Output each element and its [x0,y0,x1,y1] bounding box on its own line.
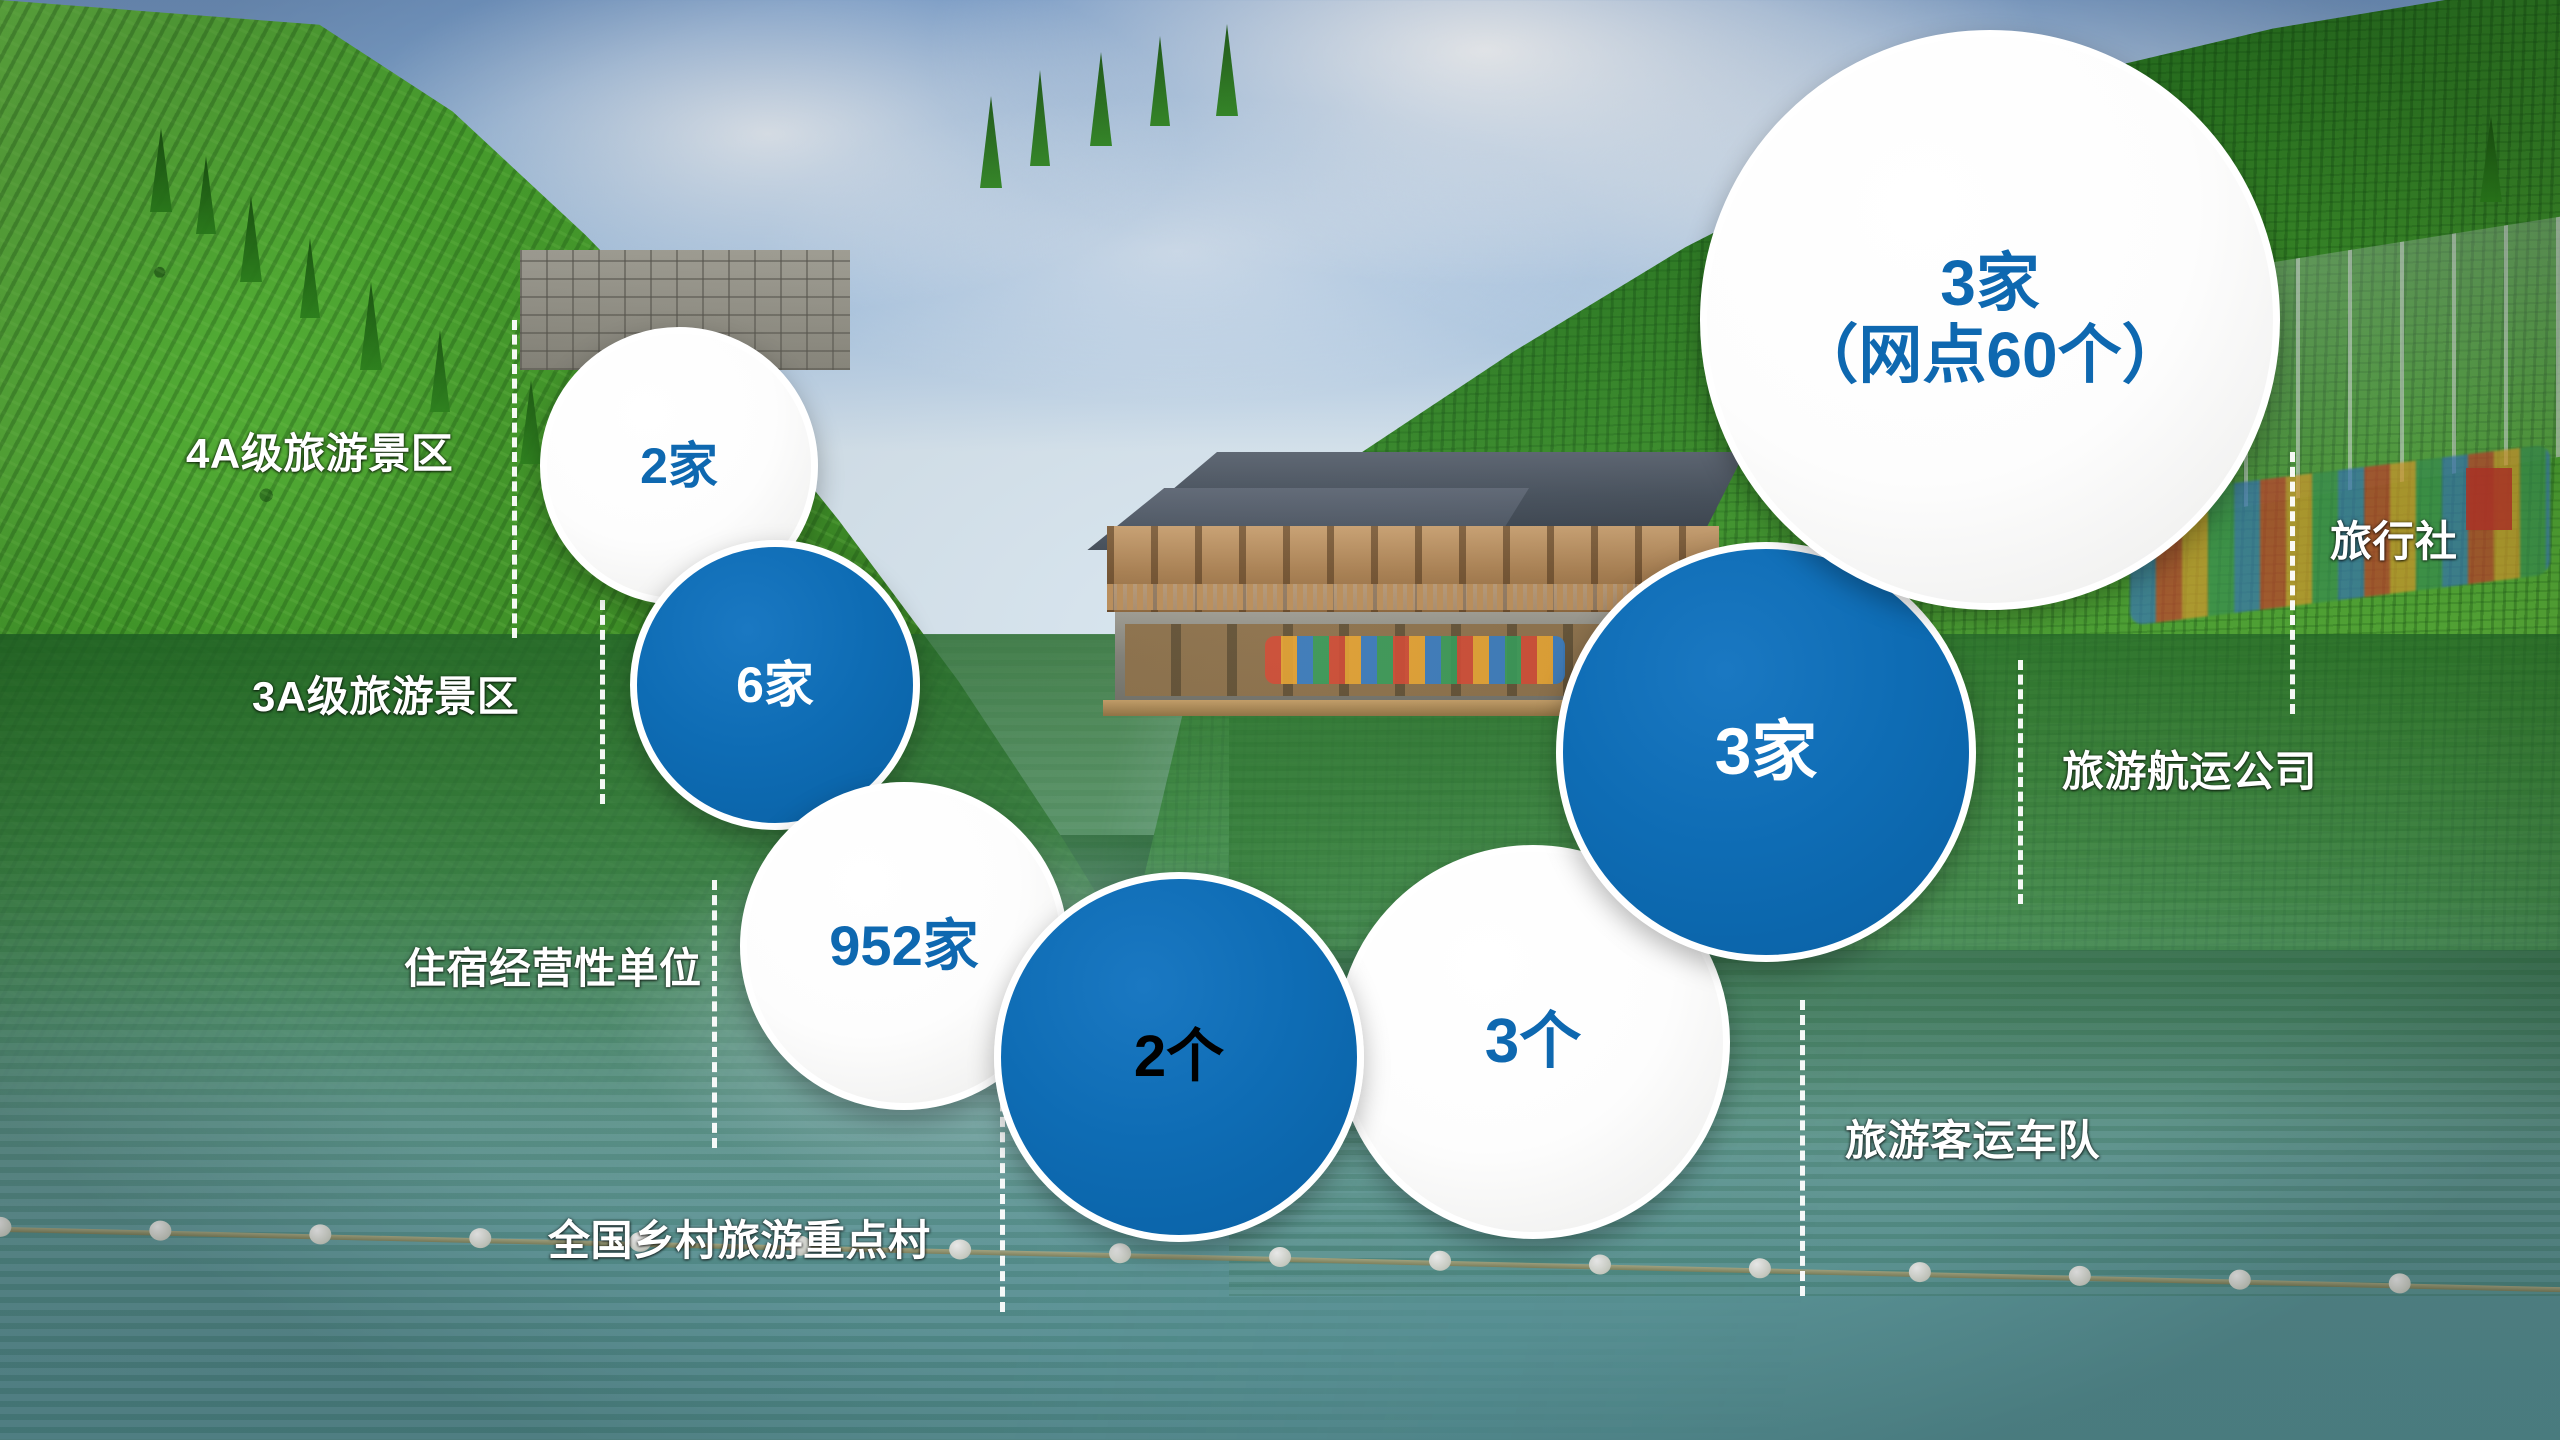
buoy [1589,1254,1611,1275]
label-scenic-3a: 3A级旅游景区 [252,663,519,724]
bubble-travel-agency[interactable]: 3家 （网点60个） [1700,30,2280,610]
bubble-value-scenic-4a: 2家 [630,438,728,494]
buoy [2068,1266,2090,1287]
infographic-canvas: 4A级旅游景区 3A级旅游景区 住宿经营性单位 全国乡村旅游重点村 旅游客运车队… [0,0,2560,1440]
buoy [1109,1243,1131,1264]
buoy [1748,1258,1770,1279]
bubble-value-national-rural-tourism-villages: 2个 [1124,1025,1234,1090]
connector-line-4a [512,320,517,638]
bubble-value-travel-agency-line1: 3家 [1794,248,2185,320]
buoy [469,1228,491,1249]
bubble-value-tourism-shipping-company: 3家 [1705,715,1828,789]
buoy [0,1217,11,1238]
label-lodging-units: 住宿经营性单位 [404,935,702,996]
connector-line-agency [2290,452,2295,714]
label-travel-agency: 旅行社 [2330,508,2458,569]
connector-line-lodging [712,880,717,1148]
label-tourist-coach-fleet: 旅游客运车队 [1845,1107,2100,1168]
bubble-value-travel-agency-line2: （网点60个） [1794,320,2185,392]
connector-line-shipping [2018,660,2023,904]
bubble-national-rural-tourism-villages[interactable]: 2个 [994,872,1364,1242]
bubble-value-lodging-units: 952家 [819,915,988,978]
label-national-rural-tourism-villages: 全国乡村旅游重点村 [548,1207,931,1268]
label-tourism-shipping-company: 旅游航运公司 [2062,738,2317,799]
buoy [2228,1269,2250,1290]
bubble-value-tourist-coach-fleet: 3个 [1475,1007,1591,1076]
buoy [149,1220,171,1241]
buoy [309,1224,331,1245]
buoy [1429,1251,1451,1272]
bubble-tourism-shipping-company[interactable]: 3家 [1556,542,1976,962]
label-scenic-4a: 4A级旅游景区 [186,420,453,481]
buoy [2388,1273,2410,1294]
buoy [1269,1247,1291,1268]
buoy [949,1239,971,1260]
buoy [1908,1262,1930,1283]
stacked-rafts [1265,636,1565,684]
bubble-value-scenic-3a: 6家 [726,657,824,713]
connector-line-coach [1800,1000,1805,1296]
red-sign [2466,468,2512,530]
bubble-value-travel-agency: 3家 （网点60个） [1784,248,2195,391]
connector-line-3a [600,600,605,804]
